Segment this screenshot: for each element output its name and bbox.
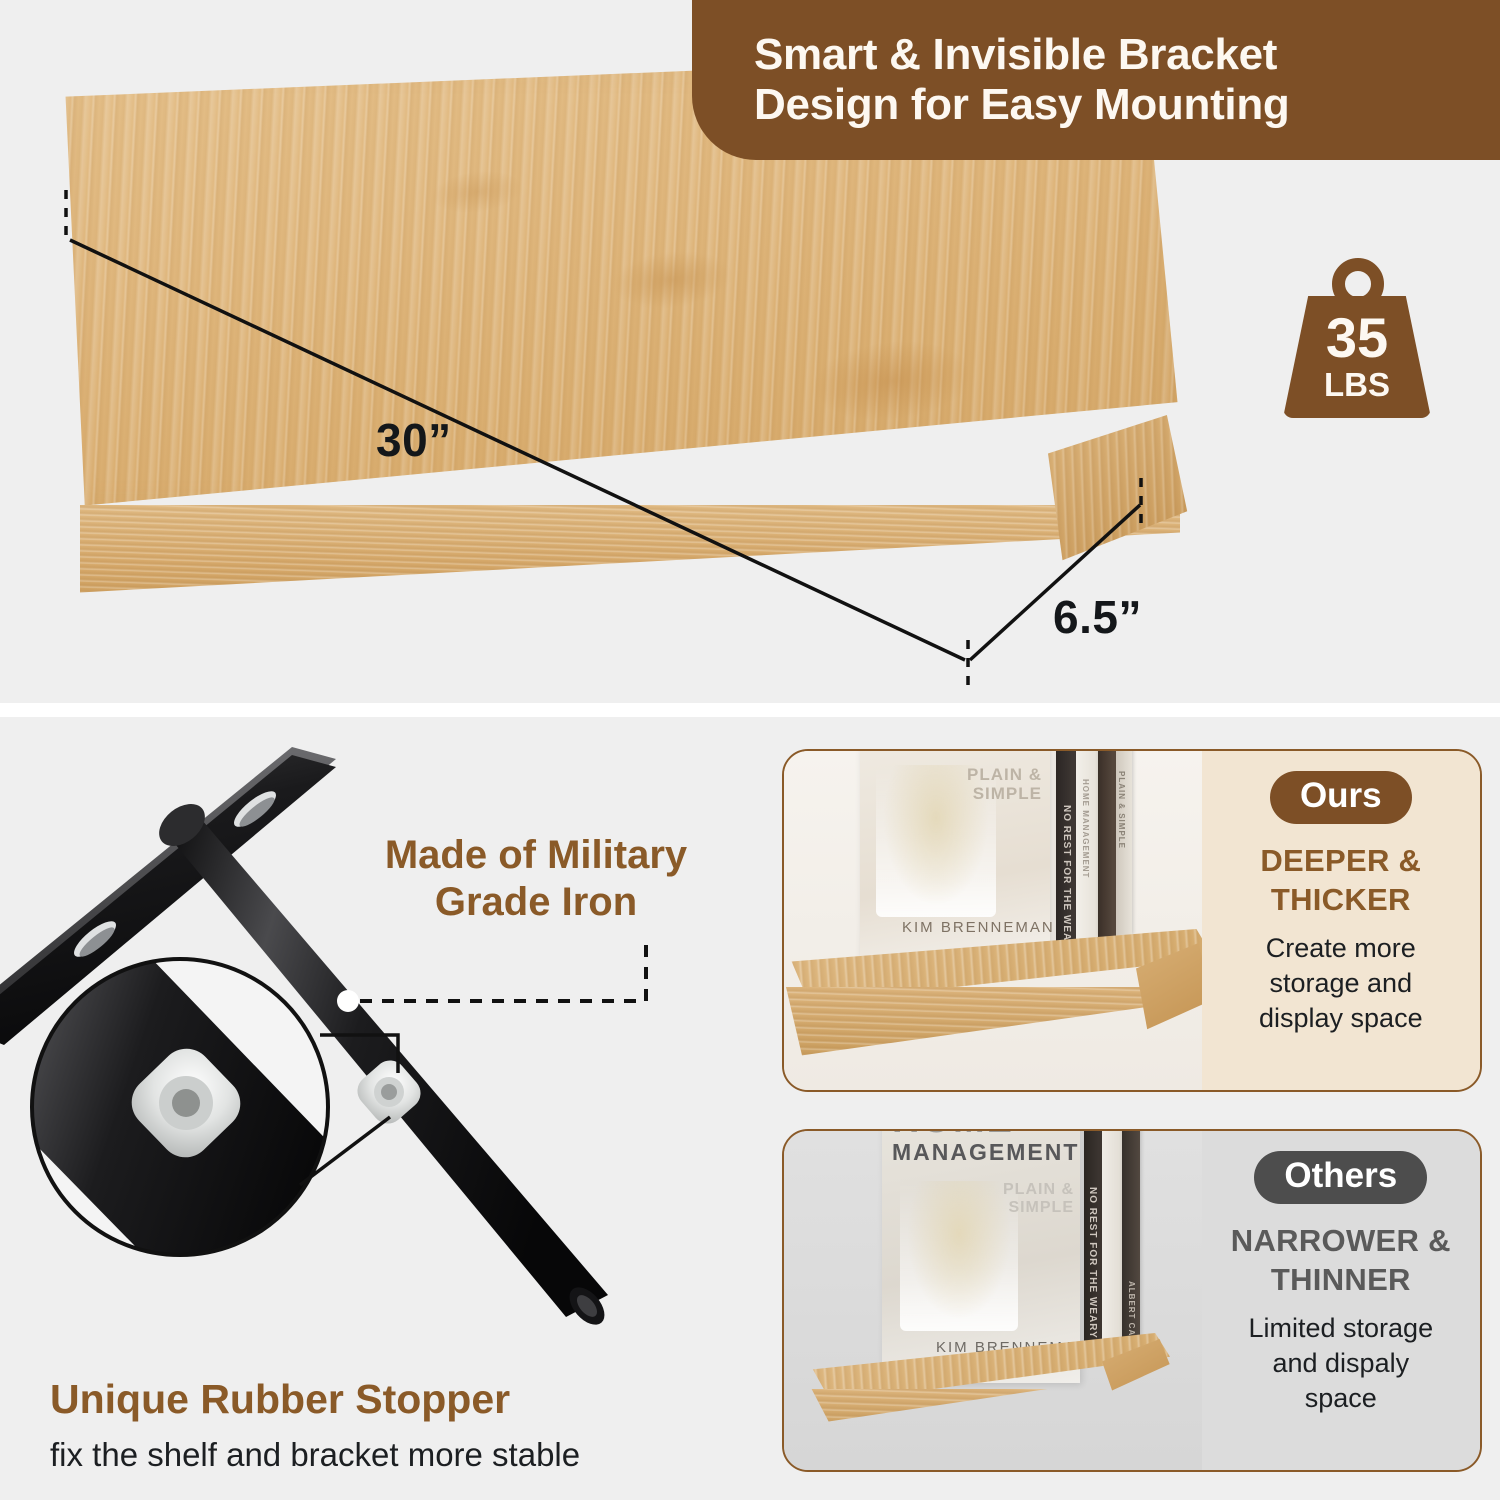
iron-feature-title: Made of Military Grade Iron <box>336 832 736 926</box>
comparison-card-ours: PLAIN & SIMPLE KIM BRENNEMAN NO REST FOR… <box>782 749 1482 1092</box>
ours-book-author: KIM BRENNEMAN <box>902 919 1055 936</box>
others-book-title: PLAIN & SIMPLE <box>974 1181 1074 1217</box>
ours-book-title: PLAIN & SIMPLE <box>936 765 1042 803</box>
ours-spine-text: PLAIN & SIMPLE <box>1117 771 1126 849</box>
header-title-line-2: Design for Easy Mounting <box>754 80 1476 130</box>
iron-callout-line <box>337 935 646 1012</box>
weight-capacity-badge: 35 LBS <box>1283 258 1431 418</box>
weight-value: 35 <box>1283 310 1431 366</box>
others-spine-text: NO REST FOR THE WEARY <box>1087 1187 1098 1339</box>
rubber-stopper-subtitle: fix the shelf and bracket more stable <box>50 1435 770 1475</box>
others-description: Limited storage and dispaly space <box>1234 1311 1447 1416</box>
header-title-line-1: Smart & Invisible Bracket <box>754 30 1476 80</box>
ours-book-spine <box>1098 751 1116 937</box>
features-panel: Made of Military Grade Iron Unique Rubbe… <box>0 717 1500 1500</box>
depth-dimension-label: 6.5” <box>1053 590 1142 644</box>
rubber-stopper-title: Unique Rubber Stopper <box>50 1377 750 1422</box>
ours-spine-text: NO REST FOR THE WEARY <box>1061 805 1072 957</box>
others-photo: HOME MANAGEMENT PLAIN & SIMPLE KIM BRENN… <box>784 1131 1202 1470</box>
others-pill-badge: Others <box>1254 1151 1427 1204</box>
ours-photo: PLAIN & SIMPLE KIM BRENNEMAN NO REST FOR… <box>784 751 1202 1090</box>
ours-pill-badge: Ours <box>1270 771 1412 824</box>
others-headline: NARROWER & THINNER <box>1231 1222 1451 1300</box>
ours-spine-text: HOME MANAGEMENT <box>1081 779 1090 878</box>
others-text-block: Others NARROWER & THINNER Limited storag… <box>1202 1131 1480 1470</box>
header-banner: Smart & Invisible Bracket Design for Eas… <box>692 0 1500 160</box>
iron-feature-title-line-2: Grade Iron <box>336 879 736 926</box>
ours-description: Create more storage and display space <box>1245 931 1437 1036</box>
panel-divider <box>0 703 1500 717</box>
comparison-card-others: HOME MANAGEMENT PLAIN & SIMPLE KIM BRENN… <box>782 1129 1482 1472</box>
others-book-title-sub: MANAGEMENT <box>892 1139 1079 1166</box>
length-dimension-label: 30” <box>376 413 452 467</box>
ours-headline: DEEPER & THICKER <box>1260 842 1421 920</box>
others-book-spine <box>1102 1131 1122 1357</box>
product-dimensions-panel: 30” 6.5” Smart & Invisible Bracket Desig… <box>0 0 1500 703</box>
ours-text-block: Ours DEEPER & THICKER Create more storag… <box>1202 751 1480 1090</box>
weight-unit: LBS <box>1283 368 1431 401</box>
bracket-illustration: Made of Military Grade Iron <box>0 717 760 1377</box>
iron-feature-title-line-1: Made of Military <box>336 832 736 879</box>
bracket-svg <box>0 717 760 1377</box>
infographic-page: 30” 6.5” Smart & Invisible Bracket Desig… <box>0 0 1500 1500</box>
